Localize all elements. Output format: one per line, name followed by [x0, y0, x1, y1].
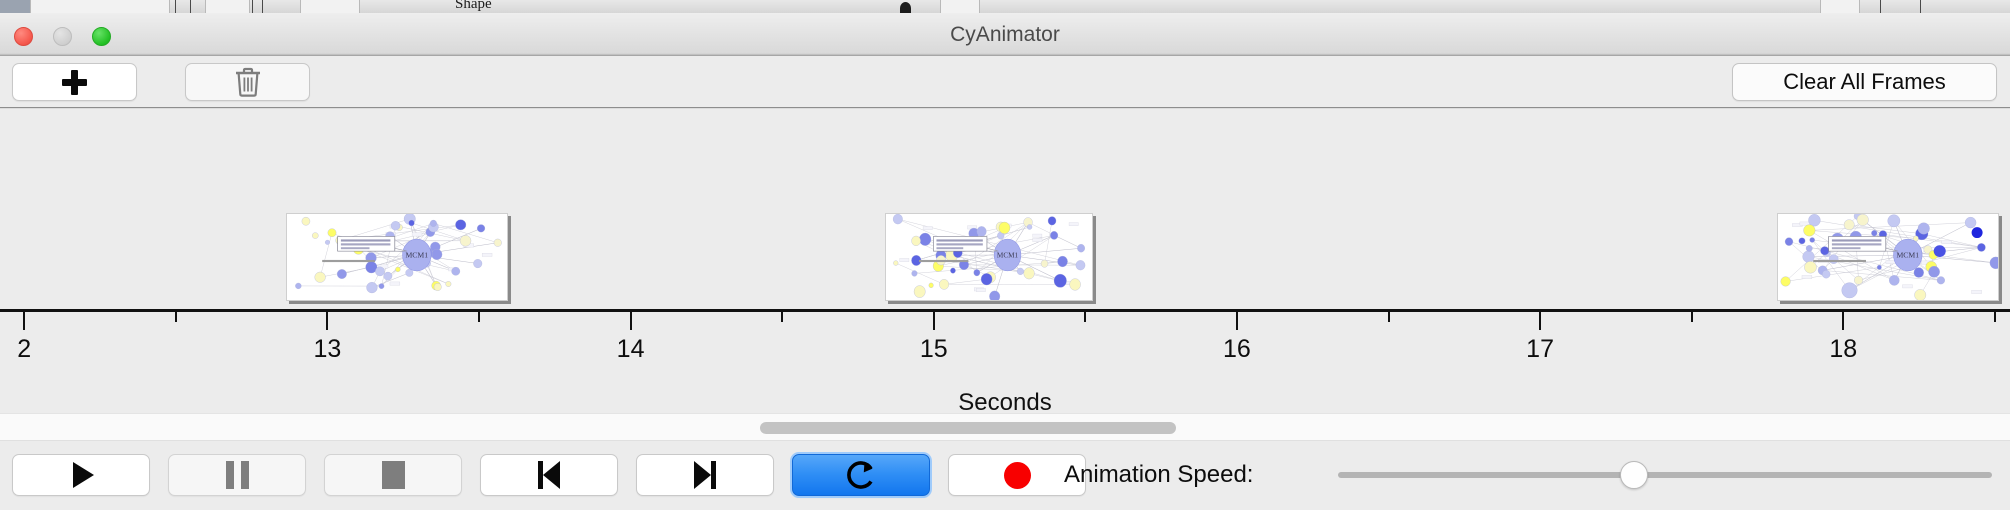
bg-window-tab	[0, 0, 30, 13]
timeline-frame-thumbnail[interactable]: MCM1	[1777, 213, 1999, 301]
skip-to-end-button[interactable]	[636, 454, 774, 496]
play-icon	[73, 462, 94, 488]
svg-text:MCM1: MCM1	[405, 252, 428, 260]
animation-speed-label: Animation Speed:	[1064, 454, 1253, 496]
axis-tick-label: 16	[1223, 335, 1251, 364]
axis-major-tick	[1236, 312, 1238, 330]
pause-icon	[226, 461, 249, 489]
clear-all-frames-button[interactable]: Clear All Frames	[1732, 63, 1997, 101]
axis-major-tick	[23, 312, 25, 330]
axis-minor-tick	[478, 312, 480, 322]
axis-major-tick	[630, 312, 632, 330]
play-button[interactable]	[12, 454, 150, 496]
svg-text:MCM1: MCM1	[1896, 252, 1919, 260]
timeline-frame-thumbnail[interactable]: MCM1	[885, 213, 1093, 301]
clear-all-frames-label: Clear All Frames	[1783, 69, 1946, 95]
stop-icon	[382, 461, 405, 489]
delete-frame-button[interactable]	[185, 63, 310, 101]
toolbar: Clear All Frames	[0, 56, 2010, 108]
window-title: CyAnimator	[0, 13, 2010, 56]
slider-thumb[interactable]	[1620, 461, 1648, 489]
axis-tick-label: 15	[920, 335, 948, 364]
pause-button[interactable]	[168, 454, 306, 496]
axis-major-tick	[326, 312, 328, 330]
background-window-strip: Shape	[0, 0, 2010, 13]
axis-tick-label: 18	[1829, 335, 1857, 364]
axis-line	[0, 309, 2010, 312]
record-icon	[1004, 462, 1031, 489]
axis-major-tick	[1842, 312, 1844, 330]
bg-divider	[190, 0, 191, 13]
bg-divider	[1920, 0, 1921, 13]
skip-back-icon	[538, 461, 560, 489]
bg-divider	[1880, 0, 1881, 13]
add-frame-button[interactable]	[12, 63, 137, 101]
scrollbar-thumb[interactable]	[760, 422, 1176, 434]
stop-button[interactable]	[324, 454, 462, 496]
timeline-frame-thumbnail[interactable]: MCM1	[286, 213, 508, 301]
trash-icon	[233, 66, 263, 98]
axis-major-tick	[1539, 312, 1541, 330]
axis-minor-tick	[175, 312, 177, 322]
bg-window-panel	[940, 0, 980, 13]
bg-cursor-glyph	[900, 2, 911, 13]
axis-tick-label: 17	[1526, 335, 1554, 364]
timeline-axis: Seconds 2131415161718	[0, 309, 2010, 424]
animation-speed-slider[interactable]	[1338, 454, 1992, 496]
bg-divider	[252, 0, 253, 13]
bg-divider	[262, 0, 263, 13]
axis-minor-tick	[1388, 312, 1390, 322]
bg-divider	[175, 0, 176, 13]
bg-window-panel	[205, 0, 250, 13]
slider-track[interactable]	[1338, 472, 1992, 478]
bg-window-panel	[1820, 0, 1860, 13]
skip-to-start-button[interactable]	[480, 454, 618, 496]
timeline-panel[interactable]: MCM1MCM1MCM1 Seconds 2131415161718	[0, 108, 2010, 413]
axis-tick-label: 2	[17, 335, 31, 364]
loop-button[interactable]	[792, 454, 930, 496]
timeline-horizontal-scrollbar[interactable]	[0, 413, 2010, 441]
axis-tick-label: 14	[617, 335, 645, 364]
axis-minor-tick	[781, 312, 783, 322]
axis-minor-tick	[1691, 312, 1693, 322]
axis-tick-label: 13	[314, 335, 342, 364]
loop-icon	[845, 458, 877, 492]
plus-icon	[62, 70, 87, 95]
axis-minor-tick	[1994, 312, 1996, 322]
window-titlebar: CyAnimator	[0, 13, 2010, 56]
bg-window-panel	[30, 0, 170, 13]
frames-track[interactable]: MCM1MCM1MCM1	[0, 109, 2010, 309]
svg-text:MCM1: MCM1	[997, 252, 1019, 260]
playback-control-bar: Animation Speed:	[0, 441, 2010, 510]
axis-major-tick	[933, 312, 935, 330]
bg-window-label: Shape	[455, 0, 492, 13]
axis-minor-tick	[1084, 312, 1086, 322]
skip-forward-icon	[694, 461, 716, 489]
bg-window-panel	[300, 0, 360, 13]
